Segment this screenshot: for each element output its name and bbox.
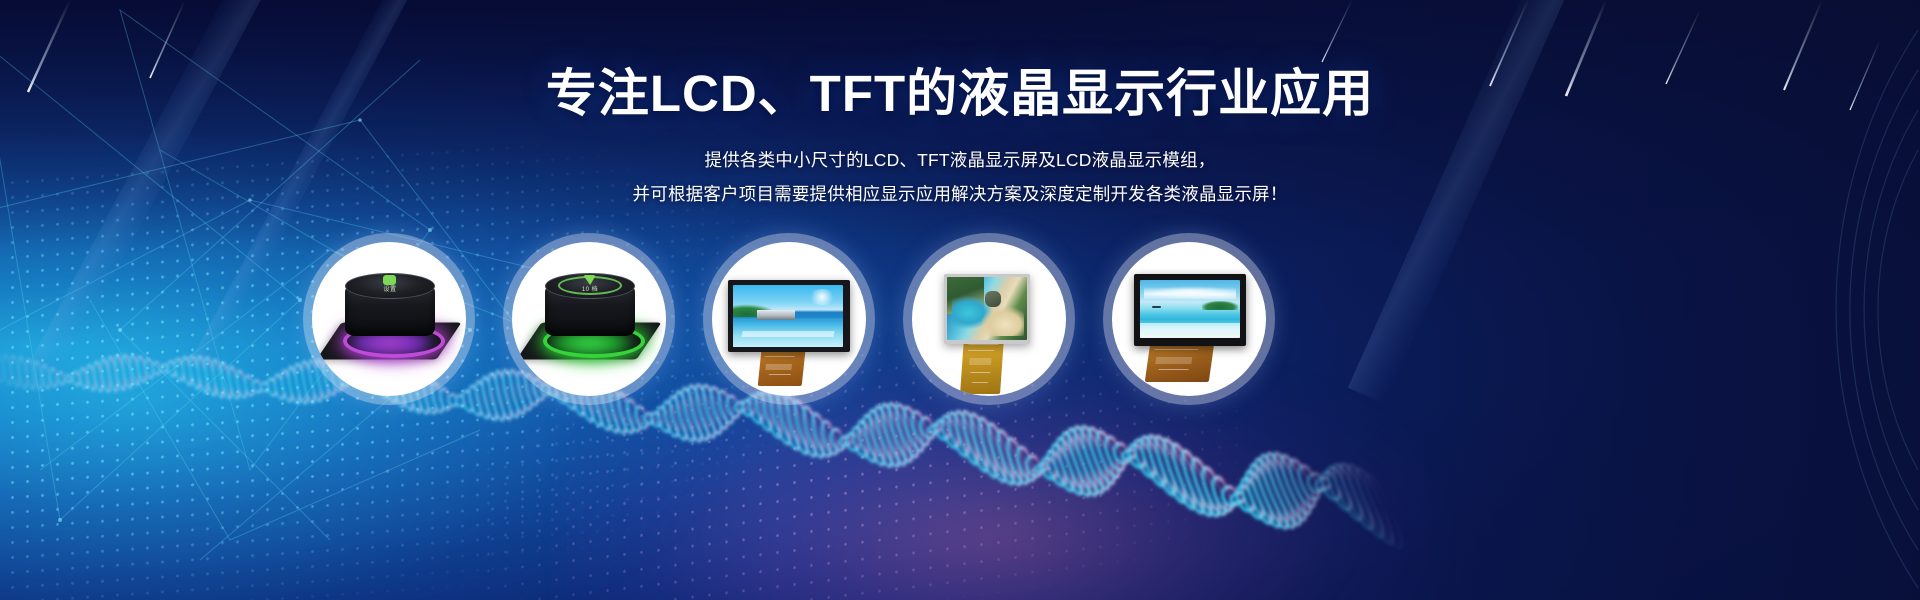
banner-subtitle: 提供各类中小尺寸的LCD、TFT液晶显示屏及LCD液晶显示模组， 并可根据客户项… [0, 121, 1920, 211]
product-image-puck-purple: 设置 [312, 242, 466, 396]
screen-content-beach-island [1140, 280, 1240, 338]
product-image-lcd-standard [912, 242, 1066, 396]
circle-disc: 10 档 [512, 242, 666, 396]
screen-content-infinity-pool [733, 285, 843, 347]
hero-banner: 专注LCD、TFT的液晶显示行业应用 提供各类中小尺寸的LCD、TFT液晶显示屏… [0, 0, 1920, 600]
product-circle-tft-lcd-capacitive-panel[interactable] [1103, 233, 1275, 405]
subtitle-line-2: 并可根据客户项目需要提供相应显示应用解决方案及深度定制开发各类液晶显示屏！ [0, 177, 1920, 211]
circle-disc: 设置 [312, 242, 466, 396]
product-image-lcd-widescreen [712, 242, 866, 396]
circle-disc [1112, 242, 1266, 396]
product-image-lcd-capacitive [1112, 242, 1266, 396]
product-circle-smart-round-controller-green[interactable]: 10 档 [503, 233, 675, 405]
subtitle-line-1: 提供各类中小尺寸的LCD、TFT液晶显示屏及LCD液晶显示模组， [0, 143, 1920, 177]
product-circle-row: 设置 10 档 [0, 233, 1920, 423]
puck-display-label: 设置 [367, 284, 413, 293]
screen-content-aerial-coast [947, 277, 1027, 340]
fpc-ribbon [960, 338, 1004, 394]
product-circle-tft-lcd-standard-panel[interactable] [903, 233, 1075, 405]
lcd-panel [728, 280, 850, 352]
product-circle-smart-round-controller-purple[interactable]: 设置 [303, 233, 475, 405]
banner-text-block: 专注LCD、TFT的液晶显示行业应用 提供各类中小尺寸的LCD、TFT液晶显示屏… [0, 0, 1920, 211]
lcd-panel [1134, 274, 1246, 346]
circle-disc [712, 242, 866, 396]
product-image-puck-green: 10 档 [512, 242, 666, 396]
puck-display-label: 10 档 [567, 284, 613, 293]
circle-disc [912, 242, 1066, 396]
product-circle-tft-lcd-widescreen-panel[interactable] [703, 233, 875, 405]
lcd-panel [944, 274, 1030, 344]
page-title: 专注LCD、TFT的液晶显示行业应用 [0, 0, 1920, 121]
